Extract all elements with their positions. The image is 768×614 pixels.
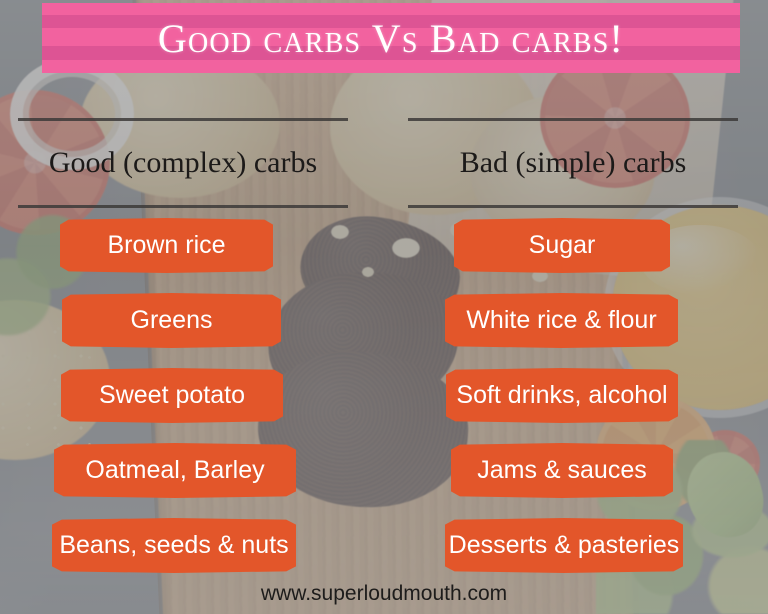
- list-item: Sweet potato: [61, 368, 283, 423]
- list-item-label: Soft drinks, alcohol: [456, 383, 667, 408]
- column-heading-label: Bad (simple) carbs: [408, 118, 738, 208]
- infographic-poster: Good carbs Vs Bad carbs! Good (complex) …: [0, 0, 768, 614]
- list-item-label: Greens: [131, 308, 213, 333]
- page-title: Good carbs Vs Bad carbs!: [42, 3, 740, 73]
- list-item-label: White rice & flour: [466, 308, 656, 333]
- list-item: Greens: [62, 293, 281, 348]
- bad-carbs-list: Sugar White rice & flour Soft drinks, al…: [432, 218, 768, 593]
- title-banner: Good carbs Vs Bad carbs!: [42, 3, 740, 73]
- column-heading-bad-carbs: Bad (simple) carbs: [408, 118, 738, 208]
- list-item: Beans, seeds & nuts: [52, 518, 296, 573]
- list-item-label: Sweet potato: [99, 383, 245, 408]
- heading-rule-bottom: [408, 205, 738, 208]
- column-heading-good-carbs: Good (complex) carbs: [18, 118, 348, 208]
- list-item: Sugar: [454, 218, 670, 273]
- list-item-label: Desserts & pasteries: [449, 533, 680, 558]
- list-item: Jams & sauces: [451, 443, 673, 498]
- list-item: Oatmeal, Barley: [54, 443, 296, 498]
- column-heading-label: Good (complex) carbs: [18, 118, 348, 208]
- list-item-label: Jams & sauces: [477, 458, 647, 483]
- list-item-label: Beans, seeds & nuts: [59, 533, 288, 558]
- list-item: Brown rice: [60, 218, 273, 273]
- list-item: Soft drinks, alcohol: [446, 368, 678, 423]
- good-carbs-list: Brown rice Greens Sweet potato Oatmeal, …: [42, 218, 392, 593]
- footer-url: www.superloudmouth.com: [0, 582, 768, 606]
- list-item-label: Oatmeal, Barley: [85, 458, 264, 483]
- list-item-label: Brown rice: [107, 233, 225, 258]
- list-item: Desserts & pasteries: [445, 518, 683, 573]
- list-item-label: Sugar: [529, 233, 596, 258]
- list-item: White rice & flour: [445, 293, 678, 348]
- heading-rule-bottom: [18, 205, 348, 208]
